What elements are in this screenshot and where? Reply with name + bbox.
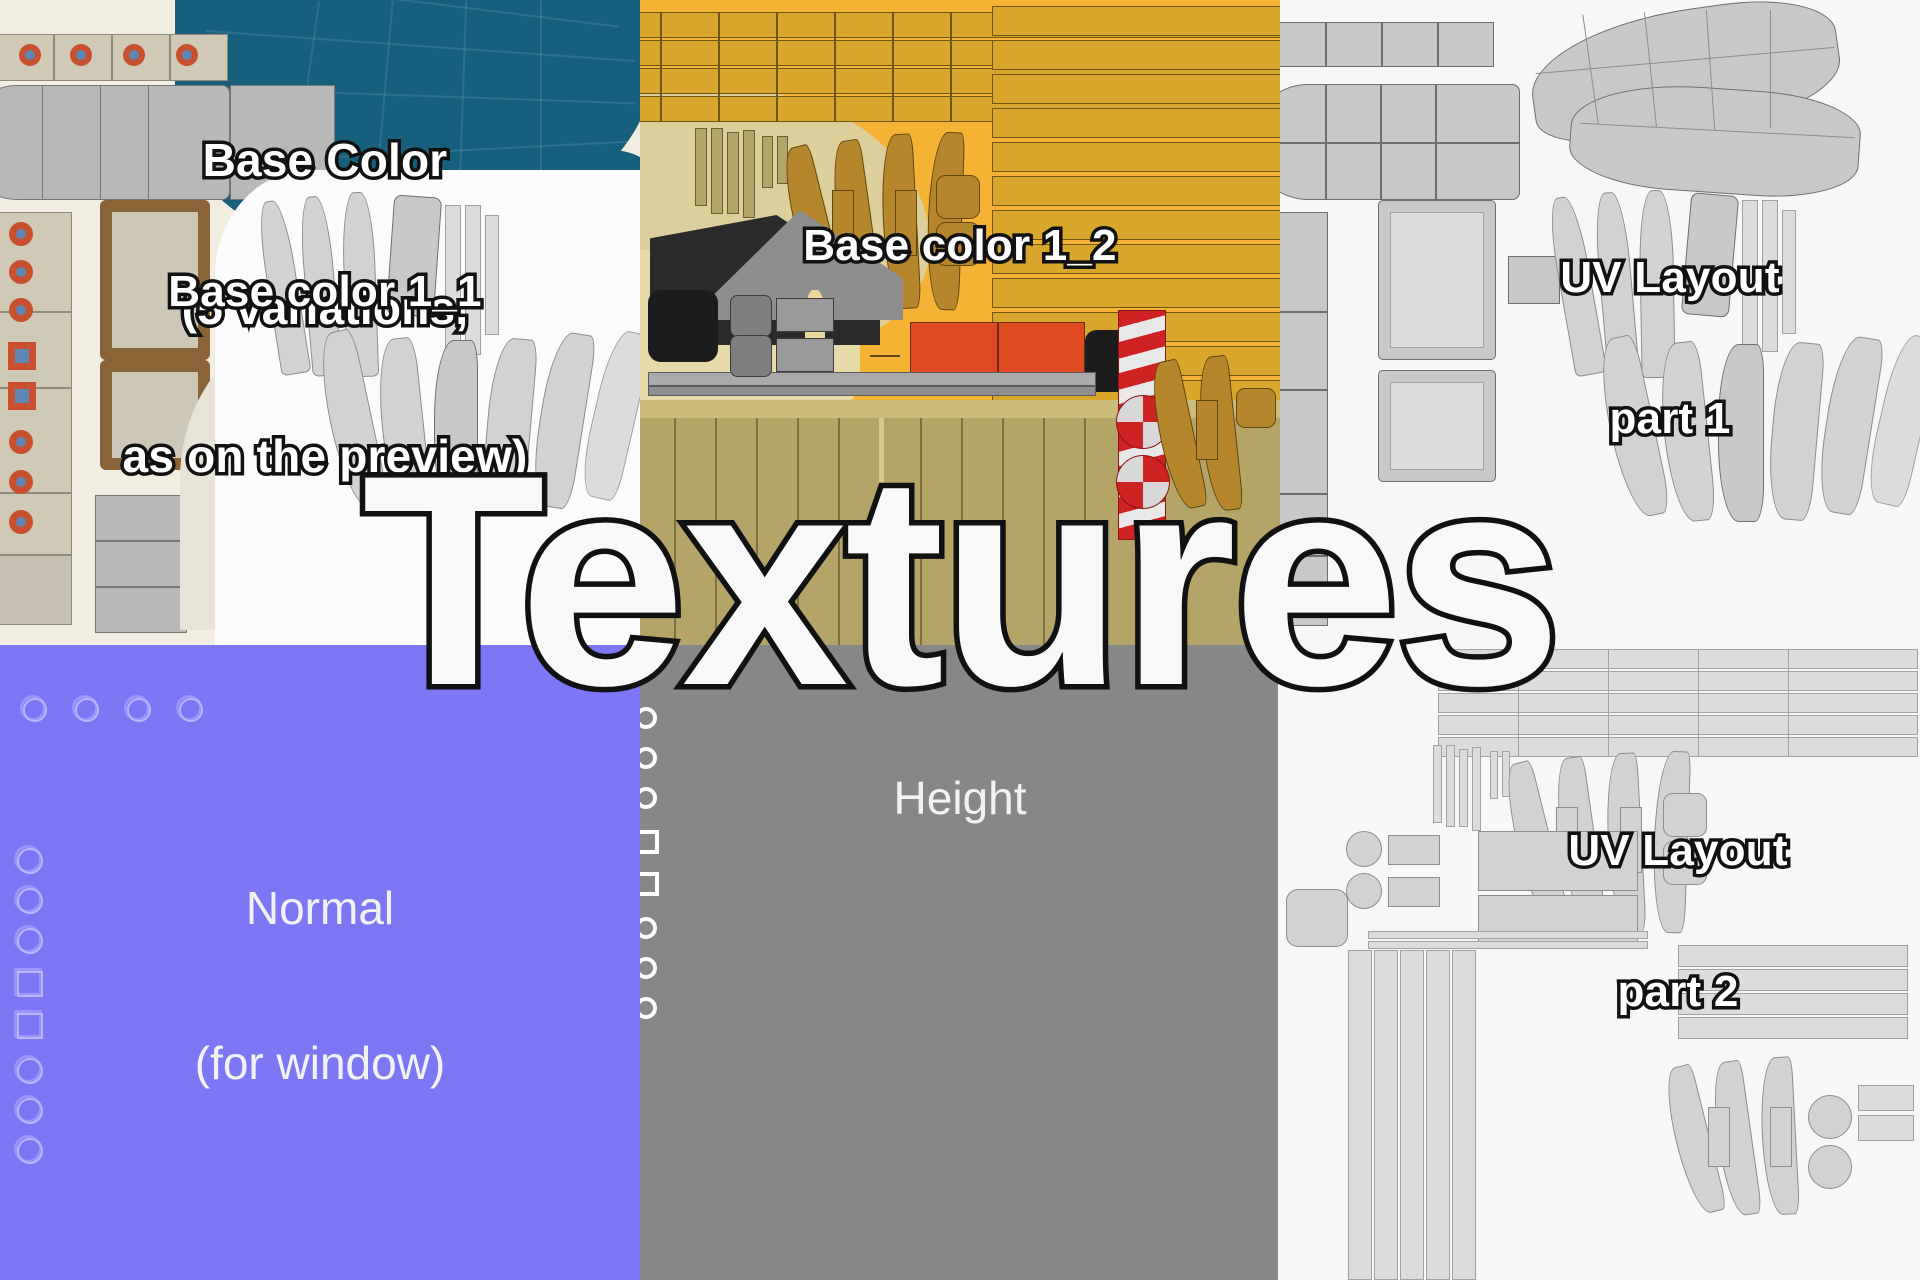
grey-rail: [648, 386, 1096, 396]
uv-cell: [1326, 22, 1382, 67]
grey-rail: [648, 372, 1096, 386]
small-strip: [711, 128, 723, 214]
uv-cell: [1382, 22, 1438, 67]
uv-cell: [1280, 312, 1328, 390]
uv-cell: [1280, 212, 1328, 312]
height-ring-marker: [640, 747, 657, 769]
height-square-marker: [640, 872, 659, 896]
red-bench-seam: [997, 322, 999, 374]
blue-dot: [16, 305, 26, 315]
uv-layout-2-label: UV Layout part 2: [1428, 733, 1920, 1110]
dark-octagon: [648, 290, 718, 362]
uv-arc-cell: [1708, 1107, 1730, 1167]
small-strip: [762, 136, 773, 188]
page-title: Textures: [0, 430, 1920, 730]
brick-seam: [718, 12, 720, 122]
uv-seam: [1280, 142, 1520, 144]
small-strip: [743, 130, 755, 218]
blue-dot: [16, 267, 26, 277]
wheel-cluster: [730, 335, 772, 377]
height-ring-marker: [640, 997, 657, 1019]
blue-square: [15, 349, 29, 363]
brick-seam: [892, 12, 894, 122]
uv-layout-2-line-1: UV Layout: [1428, 827, 1920, 874]
wheel-plate: [776, 298, 834, 332]
blue-dot: [16, 229, 26, 239]
uv-layout-1-line-1: UV Layout: [1420, 254, 1920, 301]
uv-wire: [1770, 10, 1771, 128]
uv-plank: [1348, 950, 1372, 1280]
brick-seam: [660, 12, 662, 122]
uv-plank: [1374, 950, 1398, 1280]
small-strip: [727, 132, 739, 214]
uv-octagon: [1286, 889, 1348, 947]
uv-rosette: [1346, 873, 1382, 909]
brick-seam: [776, 12, 778, 122]
brick-seam: [834, 12, 836, 122]
height-ring-marker: [640, 957, 657, 979]
height-ring-marker: [640, 917, 657, 939]
uv-plank: [1400, 950, 1424, 1280]
octagon-cell: [936, 175, 980, 219]
small-strip: [695, 128, 707, 206]
base-color-1-2-label: Base color 1_2: [640, 222, 1280, 269]
normal-line-1: Normal: [20, 883, 620, 935]
uv-cell: [1438, 22, 1494, 67]
uv-layout-2-line-2: part 2: [1428, 968, 1920, 1015]
wheel-plate: [776, 338, 834, 372]
texture-sheet-canvas: Base Color (5 variations, as on the prev…: [0, 0, 1920, 1280]
brick-seam: [950, 12, 952, 122]
uv-rosette: [1346, 831, 1382, 867]
uv-arc-cell: [1770, 1107, 1792, 1167]
normal-label: Normal (for window): [20, 780, 620, 1192]
height-square-marker: [640, 830, 659, 854]
uv-bar: [1858, 1115, 1914, 1141]
blue-square: [15, 389, 29, 403]
height-label: Height: [660, 773, 1260, 825]
normal-line-2: (for window): [20, 1038, 620, 1090]
base-color-1-1-label: Base color 1_1: [30, 268, 620, 315]
uv-cell: [1280, 22, 1326, 67]
heading-line-1: Base Color: [30, 136, 620, 185]
wheel-cluster: [730, 295, 772, 337]
uv-ring: [1808, 1145, 1852, 1189]
height-ring-marker: [640, 787, 657, 809]
